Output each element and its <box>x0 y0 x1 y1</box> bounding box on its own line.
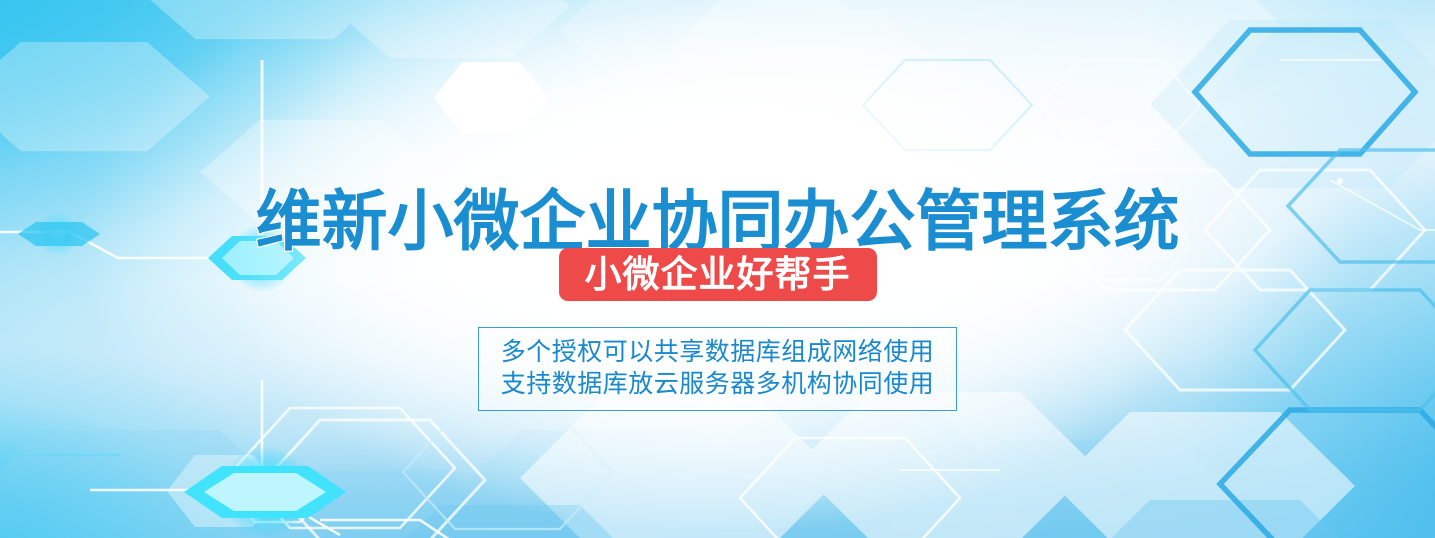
hero-banner: 维新小微企业协同办公管理系统 小微企业好帮手 多个授权可以共享数据库组成网络使用… <box>0 0 1435 538</box>
feature-description-line-2: 支持数据库放云服务器多机构协同使用 <box>501 368 935 400</box>
banner-content: 维新小微企业协同办公管理系统 小微企业好帮手 多个授权可以共享数据库组成网络使用… <box>0 0 1435 538</box>
description-row: 多个授权可以共享数据库组成网络使用 支持数据库放云服务器多机构协同使用 <box>0 327 1435 411</box>
badge-row: 小微企业好帮手 <box>0 248 1435 301</box>
feature-description-line-1: 多个授权可以共享数据库组成网络使用 <box>501 336 935 368</box>
feature-description-box: 多个授权可以共享数据库组成网络使用 支持数据库放云服务器多机构协同使用 <box>478 327 958 411</box>
tagline-badge: 小微企业好帮手 <box>559 248 877 301</box>
